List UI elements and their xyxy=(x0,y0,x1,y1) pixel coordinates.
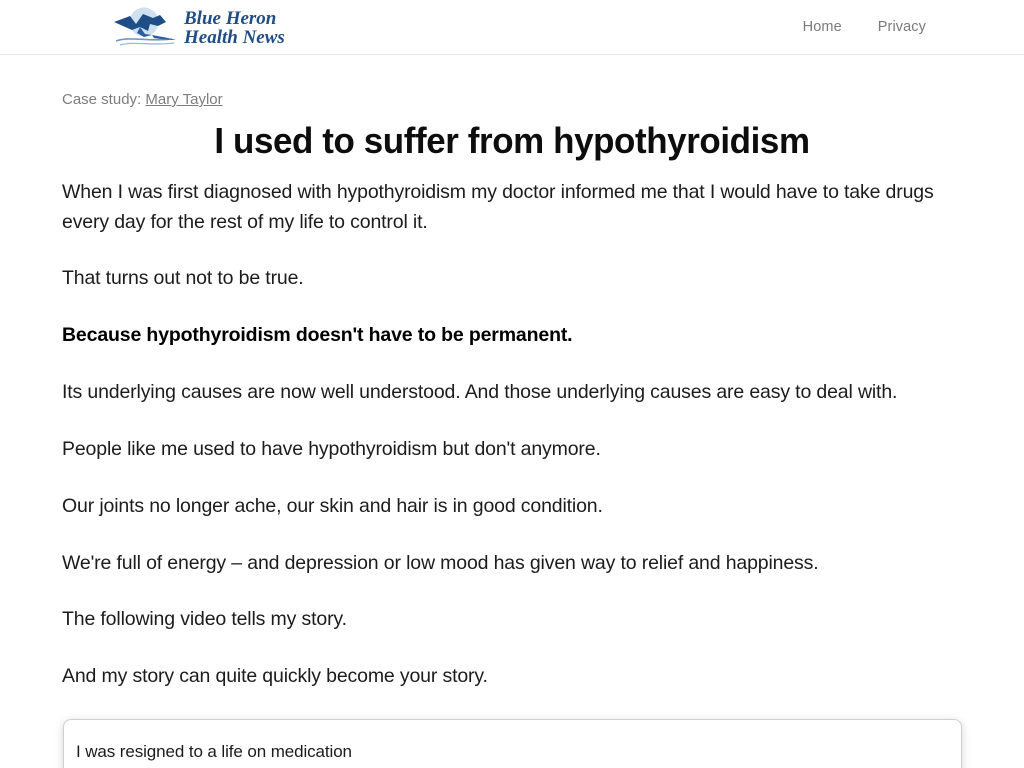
article-content: Case study: Mary Taylor I used to suffer… xyxy=(0,89,1024,768)
brand-logo[interactable]: Blue Heron Health News xyxy=(104,4,284,50)
article-paragraph: People like me used to have hypothyroidi… xyxy=(62,435,962,465)
heron-bird-logo-icon: Blue Heron Health News xyxy=(104,4,284,50)
article-paragraph: And my story can quite quickly become yo… xyxy=(62,662,962,692)
article-paragraph: Its underlying causes are now well under… xyxy=(62,378,962,408)
site-header: Blue Heron Health News Home Privacy xyxy=(0,0,1024,55)
logo-wordmark-line1: Blue Heron xyxy=(183,8,276,29)
article-paragraph: That turns out not to be true. xyxy=(62,264,962,294)
case-study-byline: Case study: Mary Taylor xyxy=(62,89,962,110)
case-study-author-link[interactable]: Mary Taylor xyxy=(145,91,222,108)
article-body: When I was first diagnosed with hypothyr… xyxy=(62,178,962,692)
case-study-label: Case study: xyxy=(62,91,141,108)
article-paragraph-emphasis: Because hypothyroidism doesn't have to b… xyxy=(62,321,962,351)
nav-link-home[interactable]: Home xyxy=(803,19,842,35)
logo-wordmark-line2: Health News xyxy=(183,27,284,48)
article-paragraph: The following video tells my story. xyxy=(62,605,962,635)
promo-kicker-text: I was resigned to a life on medication xyxy=(76,740,939,764)
nav-link-privacy[interactable]: Privacy xyxy=(878,19,926,35)
article-paragraph: We're full of energy – and depression or… xyxy=(62,549,962,579)
video-promo-card[interactable]: I was resigned to a life on medication B… xyxy=(63,719,962,768)
page-title: I used to suffer from hypothyroidism xyxy=(76,120,949,162)
article-paragraph: When I was first diagnosed with hypothyr… xyxy=(62,178,962,238)
article-paragraph: Our joints no longer ache, our skin and … xyxy=(62,492,962,522)
main-nav: Home Privacy xyxy=(803,0,926,54)
